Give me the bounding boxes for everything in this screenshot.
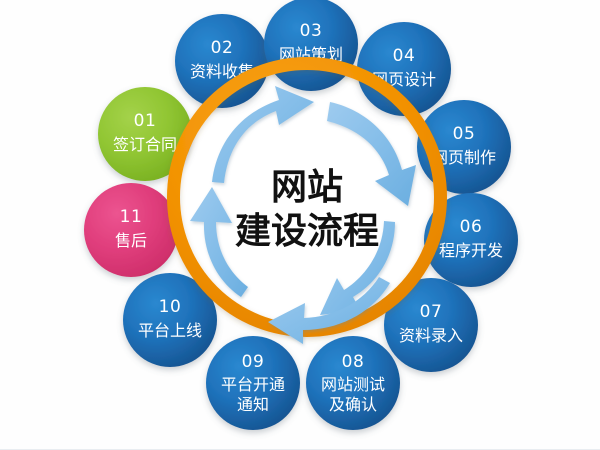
node-09-label-line-1: 平台开通 bbox=[221, 375, 285, 394]
node-07-number: 07 bbox=[420, 302, 443, 322]
node-01-label-line-1: 签订合同 bbox=[113, 135, 177, 154]
node-08[interactable]: 08 网站测试 及确认 bbox=[306, 336, 400, 430]
center-title-line-1: 网站 bbox=[271, 167, 343, 208]
node-04-number: 04 bbox=[393, 46, 416, 66]
node-06-label-line-1: 程序开发 bbox=[439, 241, 503, 260]
node-05-number: 05 bbox=[453, 124, 476, 144]
node-08-label-line-2: 及确认 bbox=[329, 395, 377, 414]
node-11-label-line-1: 售后 bbox=[115, 231, 147, 250]
node-03[interactable]: 03 网站策划 bbox=[264, 0, 358, 91]
node-09[interactable]: 09 平台开通 通知 bbox=[206, 336, 300, 430]
node-06-number: 06 bbox=[460, 217, 483, 237]
node-09-number: 09 bbox=[242, 352, 265, 372]
node-01-number: 01 bbox=[134, 111, 157, 131]
center-title-line-2: 建设流程 bbox=[235, 211, 379, 252]
node-09-label-line-2: 通知 bbox=[237, 395, 269, 414]
node-03-number: 03 bbox=[300, 21, 323, 41]
node-08-label-line-1: 网站测试 bbox=[321, 375, 385, 394]
node-10-number: 10 bbox=[159, 297, 182, 317]
process-diagram: 01 签订合同 02 资料收集 03 网站策划 04 网页设计 05 bbox=[0, 0, 600, 450]
node-11-number: 11 bbox=[120, 207, 143, 227]
circular-process-diagram: 01 签订合同 02 资料收集 03 网站策划 04 网页设计 05 bbox=[0, 0, 600, 450]
node-08-number: 08 bbox=[342, 352, 365, 372]
node-10-label-line-1: 平台上线 bbox=[138, 321, 202, 340]
node-02-number: 02 bbox=[211, 38, 234, 58]
node-07-label-line-1: 资料录入 bbox=[399, 326, 463, 345]
node-11-circle[interactable] bbox=[84, 183, 178, 277]
node-11[interactable]: 11 售后 bbox=[84, 183, 178, 277]
